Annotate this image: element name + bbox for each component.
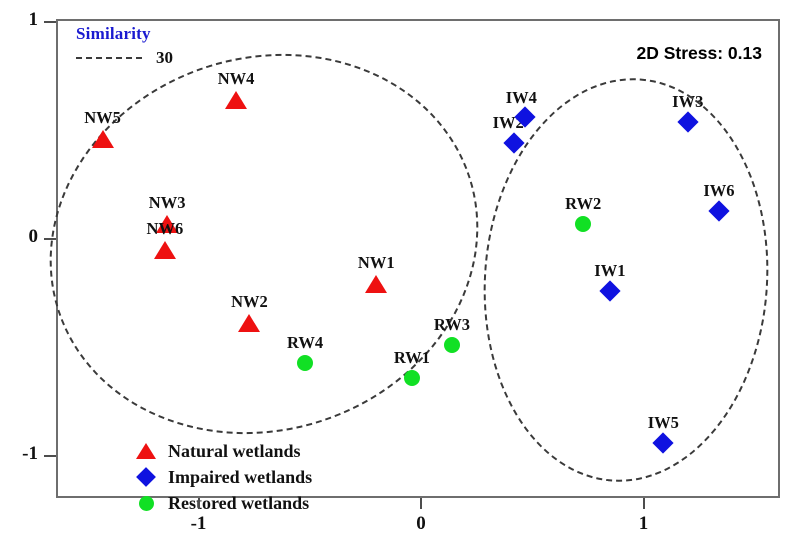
point-label-rw3: RW3 bbox=[434, 315, 470, 335]
x-tick-label--1: -1 bbox=[179, 513, 219, 535]
x-tick-label-0: 0 bbox=[401, 513, 441, 535]
data-point-rw2[interactable] bbox=[575, 216, 591, 232]
point-label-iw1: IW1 bbox=[594, 261, 625, 281]
data-point-nw2[interactable] bbox=[238, 314, 260, 332]
point-label-rw4: RW4 bbox=[287, 333, 323, 353]
similarity-value: 30 bbox=[156, 48, 173, 68]
point-label-nw6: NW6 bbox=[147, 219, 184, 239]
point-label-iw3: IW3 bbox=[672, 92, 703, 112]
legend-label-circle: Restored wetlands bbox=[168, 493, 309, 514]
stress-annotation: 2D Stress: 0.13 bbox=[637, 43, 763, 64]
legend-item-diamond[interactable]: Impaired wetlands bbox=[133, 464, 312, 490]
y-tick-1 bbox=[44, 21, 56, 23]
left-cluster bbox=[0, 0, 528, 489]
triangle-marker-icon bbox=[133, 443, 159, 459]
legend-label-diamond: Impaired wetlands bbox=[168, 467, 312, 488]
point-label-nw3: NW3 bbox=[149, 193, 186, 213]
similarity-line-swatch bbox=[76, 57, 142, 59]
point-label-nw4: NW4 bbox=[218, 69, 255, 89]
similarity-title: Similarity bbox=[76, 24, 173, 44]
y-tick-label-0: 0 bbox=[4, 226, 38, 248]
point-label-rw1: RW1 bbox=[394, 348, 430, 368]
data-point-nw1[interactable] bbox=[365, 275, 387, 293]
similarity-legend: Similarity 30 bbox=[76, 24, 173, 68]
y-tick-label--1: -1 bbox=[4, 443, 38, 465]
circle-marker-icon bbox=[133, 496, 159, 511]
y-tick-label-1: 1 bbox=[4, 9, 38, 31]
y-tick-0 bbox=[44, 238, 56, 240]
point-label-nw2: NW2 bbox=[231, 292, 268, 312]
data-point-rw1[interactable] bbox=[404, 370, 420, 386]
series-legend: Natural wetlandsImpaired wetlandsRestore… bbox=[133, 438, 312, 516]
data-point-rw4[interactable] bbox=[297, 355, 313, 371]
plot-area: Similarity 30 2D Stress: 0.13 NW1NW2NW3N… bbox=[56, 19, 780, 498]
legend-label-triangle: Natural wetlands bbox=[168, 441, 301, 462]
point-label-nw1: NW1 bbox=[358, 253, 395, 273]
legend-item-circle[interactable]: Restored wetlands bbox=[133, 490, 312, 516]
diamond-marker-icon bbox=[133, 470, 159, 484]
point-label-nw5: NW5 bbox=[84, 108, 121, 128]
x-tick-1 bbox=[643, 498, 645, 509]
legend-item-triangle[interactable]: Natural wetlands bbox=[133, 438, 312, 464]
point-label-iw6: IW6 bbox=[703, 181, 734, 201]
point-label-iw4: IW4 bbox=[506, 88, 537, 108]
point-label-rw2: RW2 bbox=[565, 194, 601, 214]
nmds-ordination-chart: Similarity 30 2D Stress: 0.13 NW1NW2NW3N… bbox=[0, 0, 792, 550]
x-tick--1 bbox=[198, 498, 200, 509]
data-point-nw4[interactable] bbox=[225, 91, 247, 109]
x-tick-0 bbox=[420, 498, 422, 509]
y-tick--1 bbox=[44, 455, 56, 457]
point-label-iw5: IW5 bbox=[648, 413, 679, 433]
data-point-nw6[interactable] bbox=[154, 241, 176, 259]
x-tick-label-1: 1 bbox=[624, 513, 664, 535]
data-point-nw5[interactable] bbox=[92, 130, 114, 148]
data-point-rw3[interactable] bbox=[444, 337, 460, 353]
